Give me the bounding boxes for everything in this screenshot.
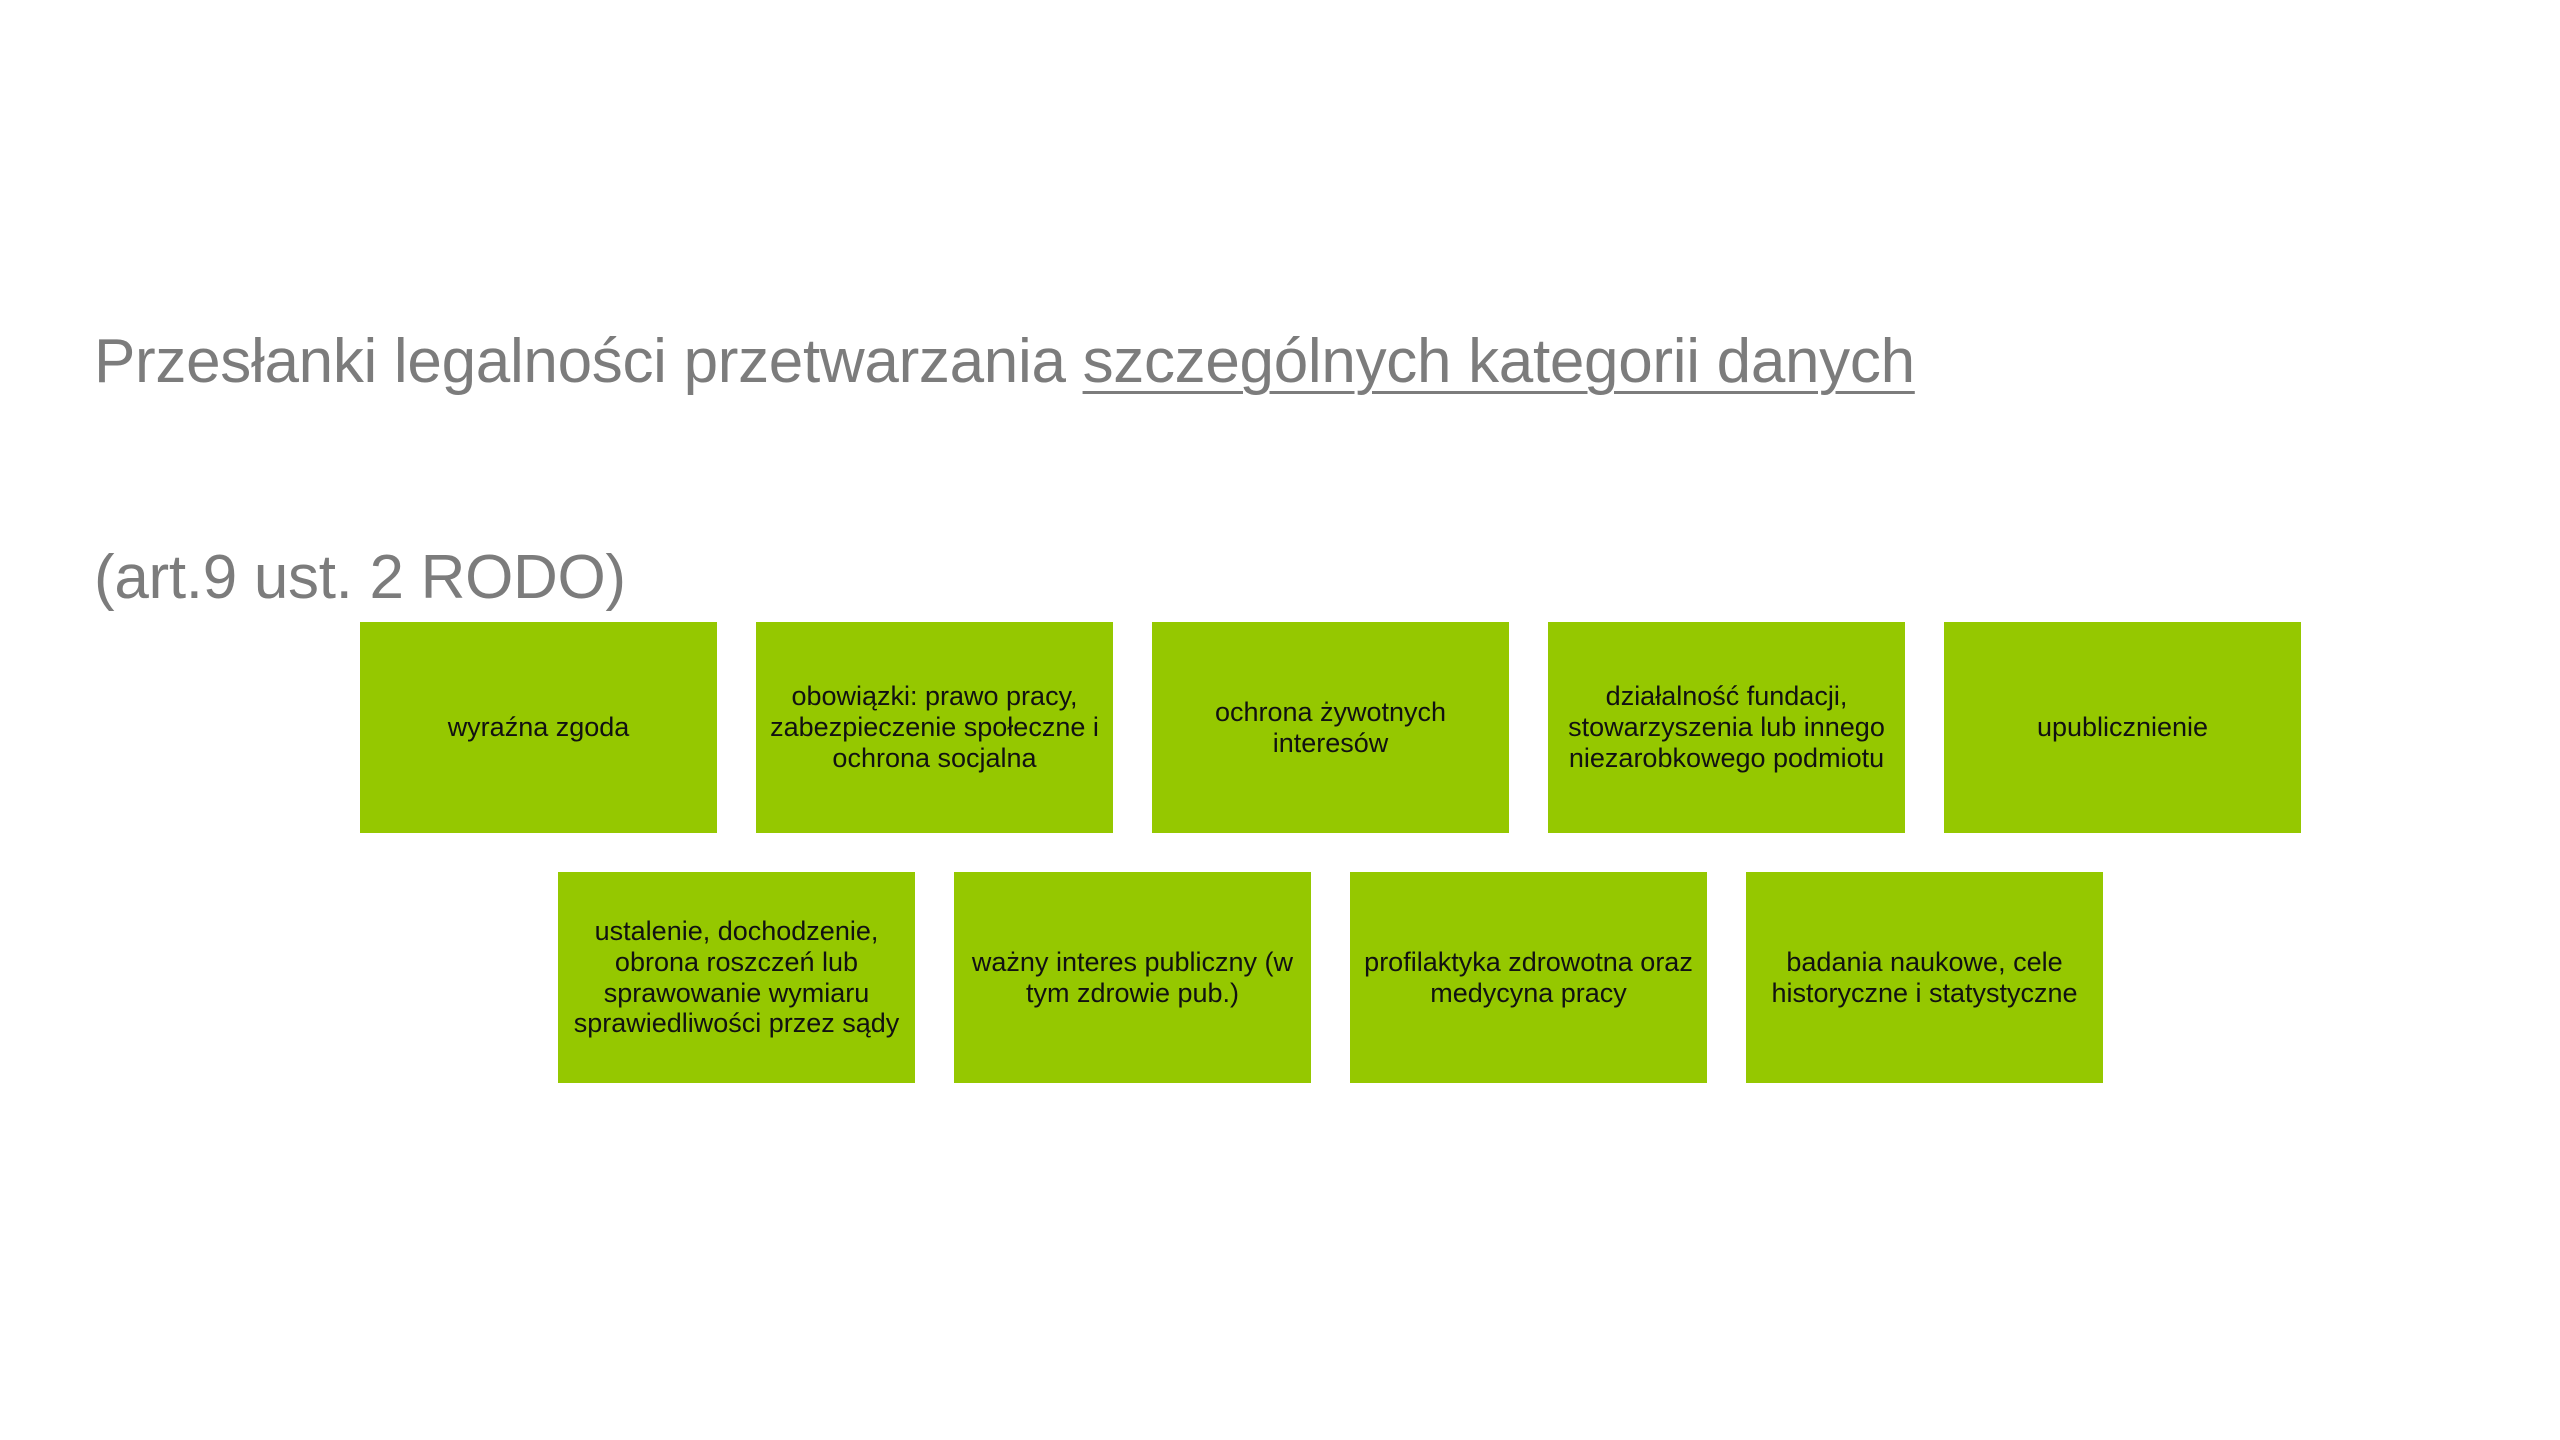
page-title-line-1: Przesłanki legalności przetwarzania szcz…: [94, 326, 2414, 398]
process-box-upublicznienie[interactable]: upublicznienie: [1944, 622, 2301, 833]
page-title-underlined-text: szczególnych kategorii danych: [1083, 327, 1915, 396]
process-box-profilaktyka-zdrowotna[interactable]: profilaktyka zdrowotna oraz medycyna pra…: [1350, 872, 1707, 1083]
process-box-obowiazki-prawo-pracy[interactable]: obowiązki: prawo pracy, zabezpieczenie s…: [756, 622, 1113, 833]
process-box-wyrazna-zgoda[interactable]: wyraźna zgoda: [360, 622, 717, 833]
process-box-ochrona-zywotnych-interesow[interactable]: ochrona żywotnych interesów: [1152, 622, 1509, 833]
process-box-dzialalnosc-fundacji[interactable]: działalność fundacji, stowarzyszenia lub…: [1548, 622, 1905, 833]
process-box-ustalenie-dochodzenie-obrona[interactable]: ustalenie, dochodzenie, obrona roszczeń …: [558, 872, 915, 1083]
page-title-plain-text: Przesłanki legalności przetwarzania: [94, 327, 1083, 396]
process-box-wazny-interes-publiczny[interactable]: ważny interes publiczny (w tym zdrowie p…: [954, 872, 1311, 1083]
slide-canvas: Przesłanki legalności przetwarzania szcz…: [0, 0, 2560, 1440]
process-box-badania-naukowe[interactable]: badania naukowe, cele historyczne i stat…: [1746, 872, 2103, 1083]
page-title-line-2: (art.9 ust. 2 RODO): [94, 542, 2414, 614]
